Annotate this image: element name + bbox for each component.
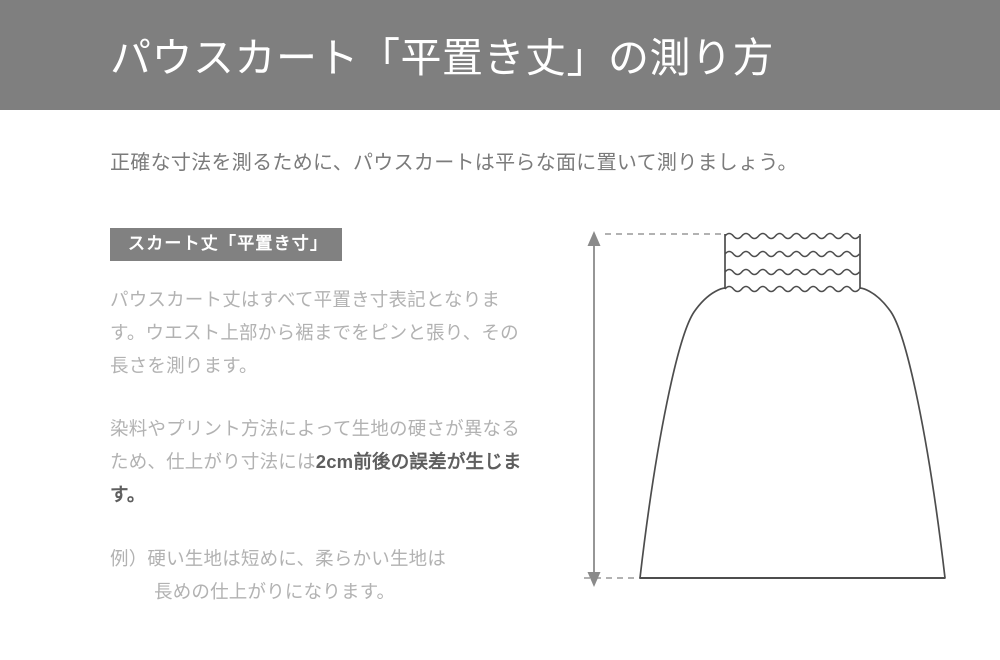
example-line-2: 長めの仕上がりになります。 [110,575,395,608]
paragraph-measurement-method: パウスカート丈はすべて平置き寸表記となります。ウエスト上部から裾までをピンと張り… [110,283,530,382]
intro-instruction-text: 正確な寸法を測るために、パウスカートは平らな面に置いて測りましょう。 [110,148,798,178]
measure-arrow-head-top [588,231,601,246]
gathered-waistband [725,234,860,292]
waistband-wave-row-2 [725,252,859,257]
page-root: パウスカート「平置き丈」の測り方 正確な寸法を測るために、パウスカートは平らな面… [0,0,1000,660]
measure-arrow-head-bottom [588,572,601,587]
header-bar: パウスカート「平置き丈」の測り方 [0,0,1000,110]
page-title: パウスカート「平置き丈」の測り方 [110,33,774,83]
example-marker: 例） [110,548,147,569]
paragraph-tolerance-note: 染料やプリント方法によって生地の硬さが異なるため、仕上がり寸法には2cm前後の誤… [110,412,530,511]
flared-skirt-body [640,288,945,578]
pau-skirt-diagram [560,210,990,610]
pau-skirt-diagram-svg [560,210,990,610]
paragraph-example-note: 例）硬い生地は短めに、柔らかい生地は長めの仕上がりになります。 [110,542,530,608]
section-badge: スカート丈「平置き寸」 [110,228,342,261]
left-content-column: スカート丈「平置き寸」 パウスカート丈はすべて平置き寸表記となります。ウエスト上… [110,228,530,608]
waistband-wave-row-1 [725,234,859,239]
example-line-1: 硬い生地は短めに、柔らかい生地は [147,542,446,575]
waistband-wave-row-3 [725,270,859,275]
